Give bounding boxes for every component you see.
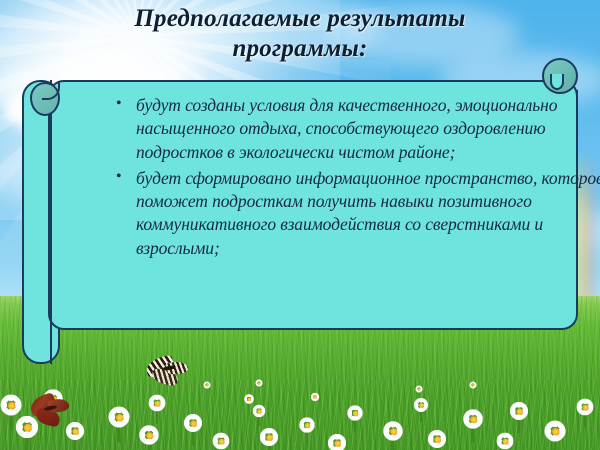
scroll-spine-fold-line bbox=[50, 80, 52, 364]
daisy-flower bbox=[428, 430, 446, 448]
daisy-flower bbox=[1, 395, 22, 416]
scroll-curl-top-right-edge bbox=[576, 90, 578, 104]
daisy-flower bbox=[213, 433, 230, 450]
title-line-2: программы: bbox=[0, 34, 600, 64]
daisy-flower bbox=[260, 428, 278, 446]
daisy-flower bbox=[577, 399, 594, 416]
daisy-flower bbox=[204, 382, 211, 389]
daisy-flower bbox=[463, 409, 483, 429]
presentation-slide: Предполагаемые результаты программы: буд… bbox=[0, 0, 600, 450]
list-item: будут созданы условия для качественного,… bbox=[114, 94, 600, 164]
daisy-flower bbox=[545, 421, 566, 442]
daisy-flower bbox=[414, 398, 428, 412]
daisy-flower bbox=[347, 405, 362, 420]
daisy-flower bbox=[244, 394, 254, 404]
title-line-1: Предполагаемые результаты bbox=[0, 4, 600, 34]
daisy-flower bbox=[256, 380, 263, 387]
daisy-flower bbox=[383, 421, 403, 441]
scroll-curl-top-right-inner-icon bbox=[550, 74, 564, 90]
list-item: будет сформировано информационное простр… bbox=[114, 167, 600, 260]
daisy-flower bbox=[311, 393, 319, 401]
butterfly-icon bbox=[30, 396, 70, 426]
daisy-flower bbox=[328, 434, 346, 450]
scroll-panel: будут созданы условия для качественного,… bbox=[22, 76, 578, 368]
daisy-flower bbox=[510, 402, 528, 420]
daisy-flower bbox=[253, 405, 266, 418]
daisy-flower bbox=[416, 386, 423, 393]
daisy-flower bbox=[149, 395, 166, 412]
bullet-list: будут созданы условия для качественного,… bbox=[114, 94, 600, 263]
daisy-flower bbox=[470, 382, 477, 389]
daisy-flower bbox=[299, 417, 314, 432]
daisy-flower bbox=[497, 433, 514, 450]
daisy-flower bbox=[139, 425, 159, 445]
daisy-flower bbox=[184, 414, 202, 432]
daisy-flower bbox=[109, 407, 130, 428]
scroll-content-panel: будут созданы условия для качественного,… bbox=[48, 80, 578, 330]
page-title: Предполагаемые результаты программы: bbox=[0, 4, 600, 63]
